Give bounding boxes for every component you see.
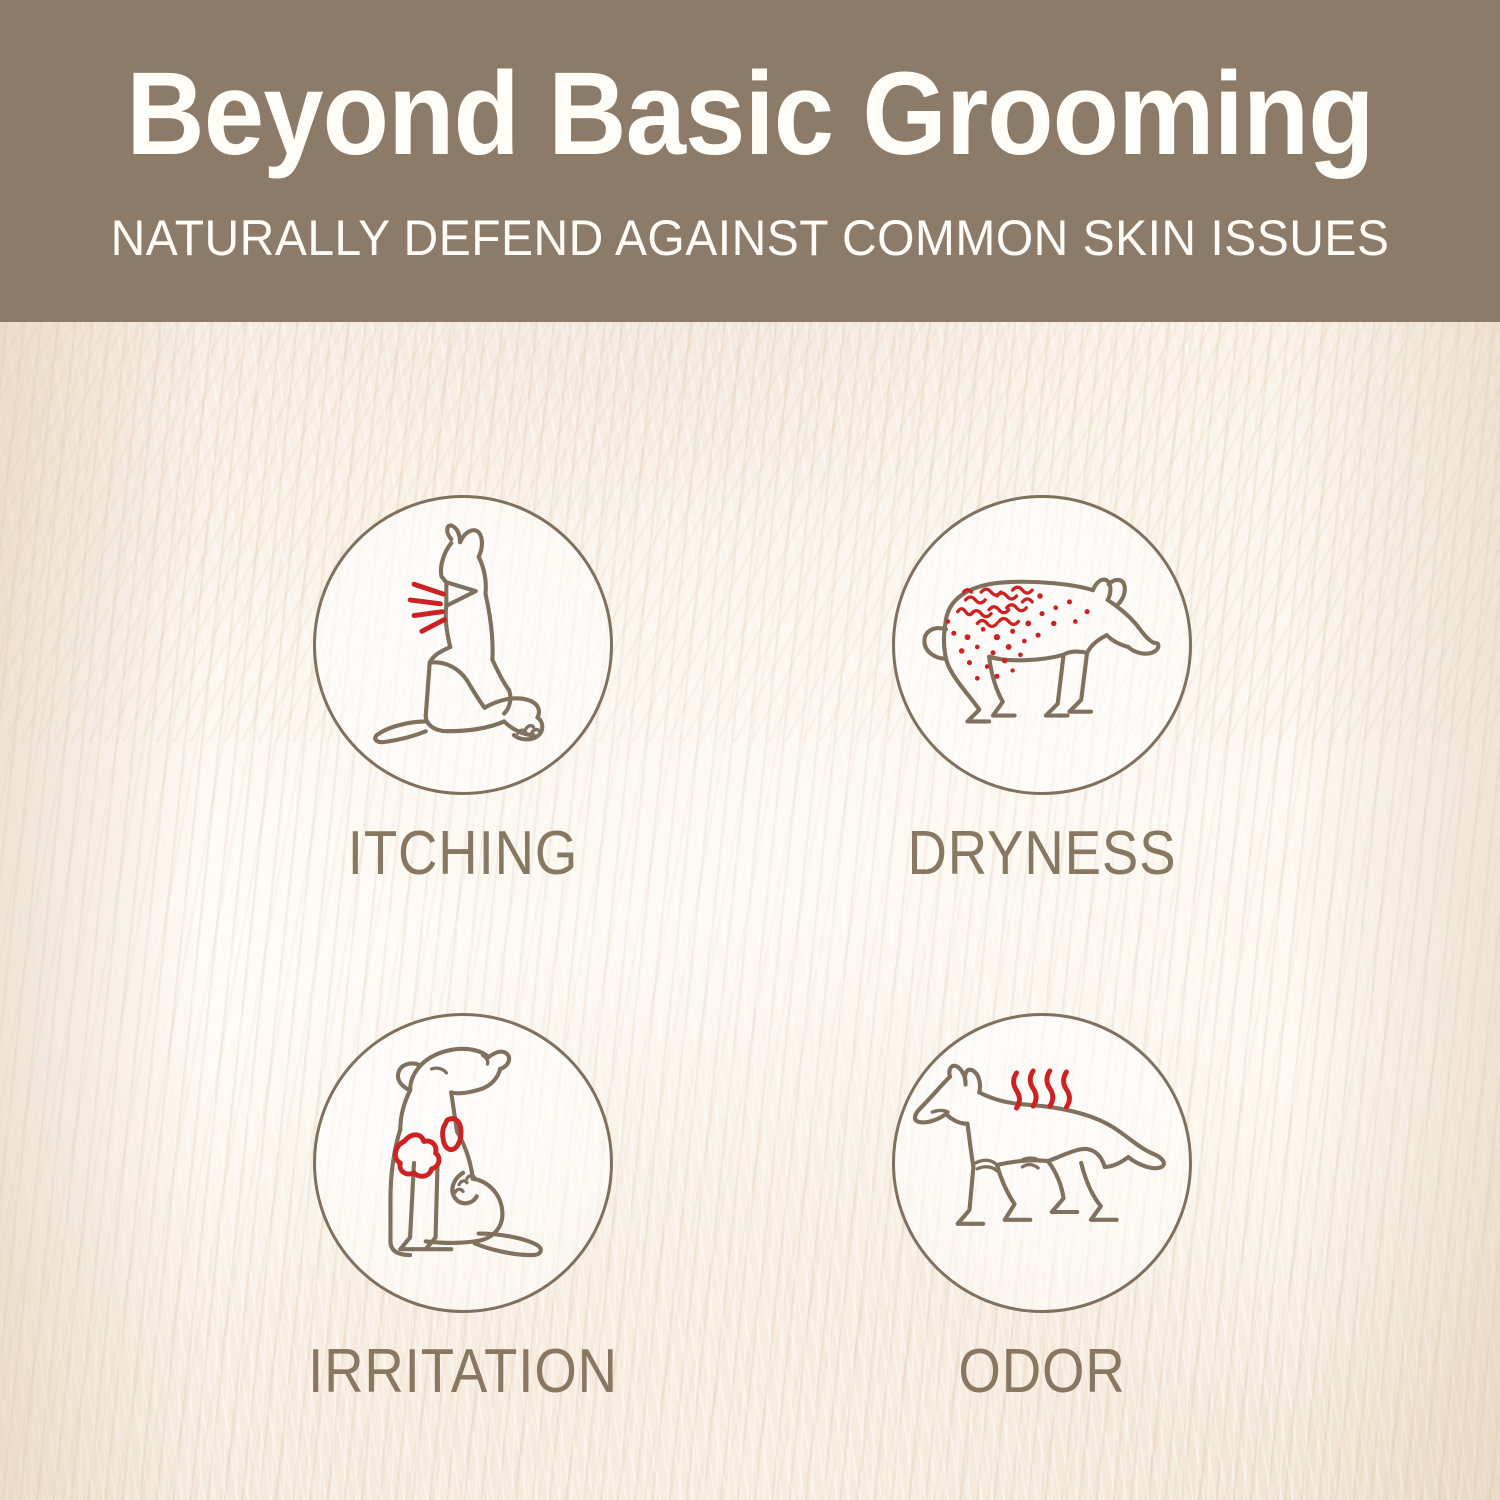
page-subtitle: NATURALLY DEFEND AGAINST COMMON SKIN ISS… [30, 208, 1470, 268]
marketing-infographic: Beyond Basic Grooming NATURALLY DEFEND A… [0, 0, 1500, 1500]
dog-odor-stink-lines-icon [892, 1013, 1192, 1313]
benefit-label-itching: ITCHING [278, 819, 648, 889]
benefit-label-dryness: DRYNESS [857, 819, 1227, 889]
header-banner: Beyond Basic Grooming NATURALLY DEFEND A… [0, 0, 1500, 322]
dog-scratching-icon [313, 495, 613, 795]
dog-irritated-skin-icon [313, 1013, 613, 1313]
benefit-item-irritation: IRRITATION [253, 1013, 673, 1407]
benefit-label-odor: ODOR [857, 1337, 1227, 1407]
benefit-item-dryness: DRYNESS [832, 495, 1252, 889]
dog-dry-skin-flakes-icon [892, 495, 1192, 795]
page-title: Beyond Basic Grooming [60, 48, 1440, 180]
benefit-item-itching: ITCHING [253, 495, 673, 889]
benefit-item-odor: ODOR [832, 1013, 1252, 1407]
benefit-label-irritation: IRRITATION [278, 1337, 648, 1407]
